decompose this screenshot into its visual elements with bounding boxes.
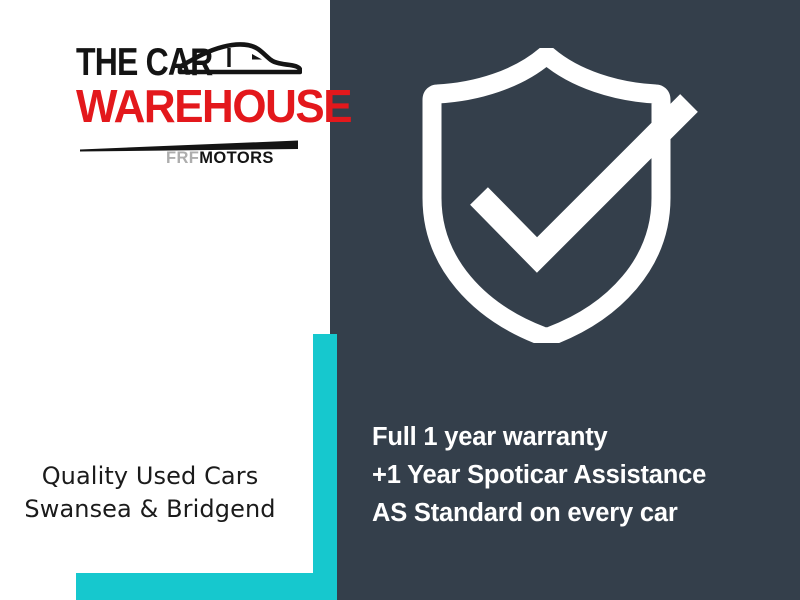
tagline-line-2: Swansea & Bridgend xyxy=(0,493,300,526)
tagline: Quality Used Cars Swansea & Bridgend xyxy=(0,460,300,526)
tagline-line-1: Quality Used Cars xyxy=(0,460,300,493)
promo-line-2: +1 Year Spoticar Assistance xyxy=(372,456,792,494)
teal-accent-horizontal-bar xyxy=(76,573,337,600)
logo-line-warehouse: WAREHOUSE xyxy=(76,84,286,128)
advertisement-banner: THE CAR WAREHOUSE FRFMOTORS Quality Used… xyxy=(0,0,800,600)
logo-subtitle-frf: FRF xyxy=(166,149,199,167)
logo-subtitle: FRFMOTORS xyxy=(166,149,274,168)
shield-check-icon xyxy=(415,48,715,343)
promo-line-3: AS Standard on every car xyxy=(372,494,792,532)
promo-line-1: Full 1 year warranty xyxy=(372,418,792,456)
logo-subtitle-motors: MOTORS xyxy=(199,149,274,167)
car-silhouette-icon xyxy=(174,38,302,82)
teal-accent-vertical-bar xyxy=(313,334,337,600)
brand-logo[interactable]: THE CAR WAREHOUSE FRFMOTORS xyxy=(76,44,296,159)
promo-text-block: Full 1 year warranty +1 Year Spoticar As… xyxy=(372,418,792,532)
